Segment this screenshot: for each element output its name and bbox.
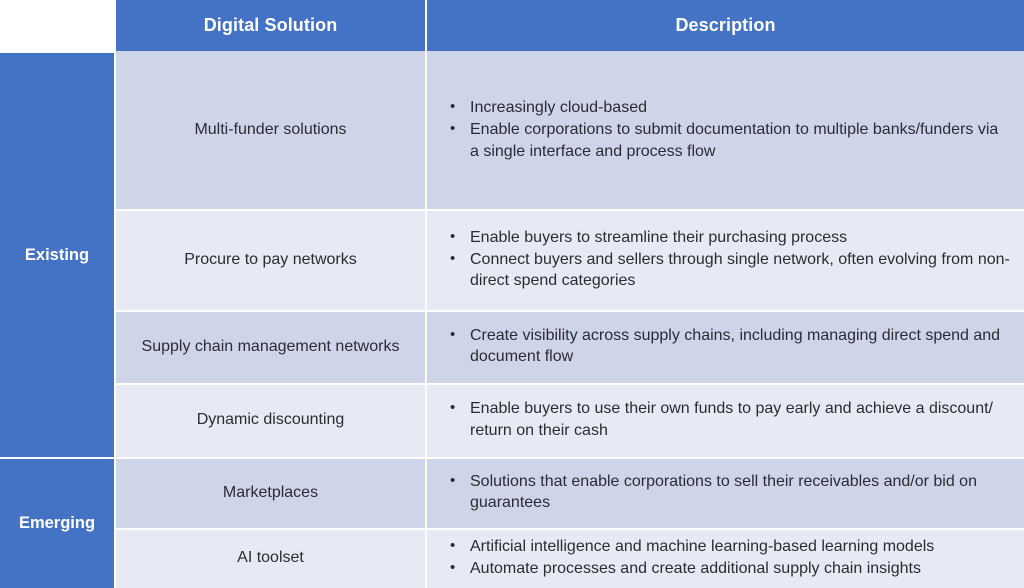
solution-cell-1: Procure to pay networks — [114, 209, 425, 310]
bullet-text: Create visibility across supply chains, … — [470, 327, 1000, 365]
bullet-icon: • — [450, 558, 455, 578]
solution-cell-3: Dynamic discounting — [114, 383, 425, 457]
description-cell-3: • Enable buyers to use their own funds t… — [425, 383, 1024, 457]
description-cell-5: • Artificial intelligence and machine le… — [425, 528, 1024, 588]
table-corner-blank — [0, 0, 114, 51]
description-cell-4: • Solutions that enable corporations to … — [425, 457, 1024, 528]
bullet-icon: • — [450, 227, 455, 247]
bullet-text: Enable buyers to use their own funds to … — [470, 400, 993, 438]
bullet-icon: • — [450, 249, 455, 269]
bullet-text: Enable buyers to streamline their purcha… — [470, 229, 847, 246]
bullet-list-0: • Increasingly cloud-based • Enable corp… — [443, 97, 1010, 163]
bullet-icon: • — [450, 119, 455, 139]
category-label-emerging: Emerging — [19, 514, 95, 533]
description-cell-1: • Enable buyers to streamline their purc… — [425, 209, 1024, 310]
bullet-icon: • — [450, 536, 455, 556]
solution-cell-4: Marketplaces — [114, 457, 425, 528]
bullet-list-1: • Enable buyers to streamline their purc… — [443, 227, 1010, 293]
bullet-text: Connect buyers and sellers through singl… — [470, 251, 1010, 289]
bullet-list-3: • Enable buyers to use their own funds t… — [443, 398, 1010, 442]
category-cell-existing: Existing — [0, 51, 114, 457]
bullet-list-4: • Solutions that enable corporations to … — [443, 471, 1010, 515]
solution-cell-2: Supply chain management networks — [114, 310, 425, 383]
bullet-icon: • — [450, 398, 455, 418]
description-cell-2: • Create visibility across supply chains… — [425, 310, 1024, 383]
column-header-digital-solution: Digital Solution — [114, 0, 425, 51]
bullet-text: Increasingly cloud-based — [470, 99, 647, 116]
list-item: • Enable buyers to use their own funds t… — [443, 398, 1010, 441]
bullet-text: Solutions that enable corporations to se… — [470, 473, 977, 511]
list-item: • Enable corporations to submit document… — [443, 119, 1010, 162]
solution-cell-5: AI toolset — [114, 528, 425, 588]
bullet-text: Automate processes and create additional… — [470, 560, 921, 577]
list-item: • Connect buyers and sellers through sin… — [443, 249, 1010, 292]
description-cell-0: • Increasingly cloud-based • Enable corp… — [425, 51, 1024, 209]
bullet-text: Artificial intelligence and machine lear… — [470, 538, 934, 555]
list-item: • Solutions that enable corporations to … — [443, 471, 1010, 514]
solution-cell-0: Multi-funder solutions — [114, 51, 425, 209]
category-cell-emerging: Emerging — [0, 457, 114, 588]
bullet-icon: • — [450, 471, 455, 491]
bullet-list-5: • Artificial intelligence and machine le… — [443, 536, 1010, 581]
column-header-description: Description — [425, 0, 1024, 51]
bullet-text: Enable corporations to submit documentat… — [470, 121, 998, 159]
category-label-existing: Existing — [25, 246, 89, 265]
list-item: • Increasingly cloud-based — [443, 97, 1010, 118]
list-item: • Create visibility across supply chains… — [443, 325, 1010, 368]
list-item: • Artificial intelligence and machine le… — [443, 536, 1010, 557]
list-item: • Automate processes and create addition… — [443, 558, 1010, 579]
list-item: • Enable buyers to streamline their purc… — [443, 227, 1010, 248]
digital-solutions-table: Digital Solution Description Existing Mu… — [0, 0, 1024, 588]
bullet-list-2: • Create visibility across supply chains… — [443, 325, 1010, 369]
bullet-icon: • — [450, 97, 455, 117]
bullet-icon: • — [450, 325, 455, 345]
